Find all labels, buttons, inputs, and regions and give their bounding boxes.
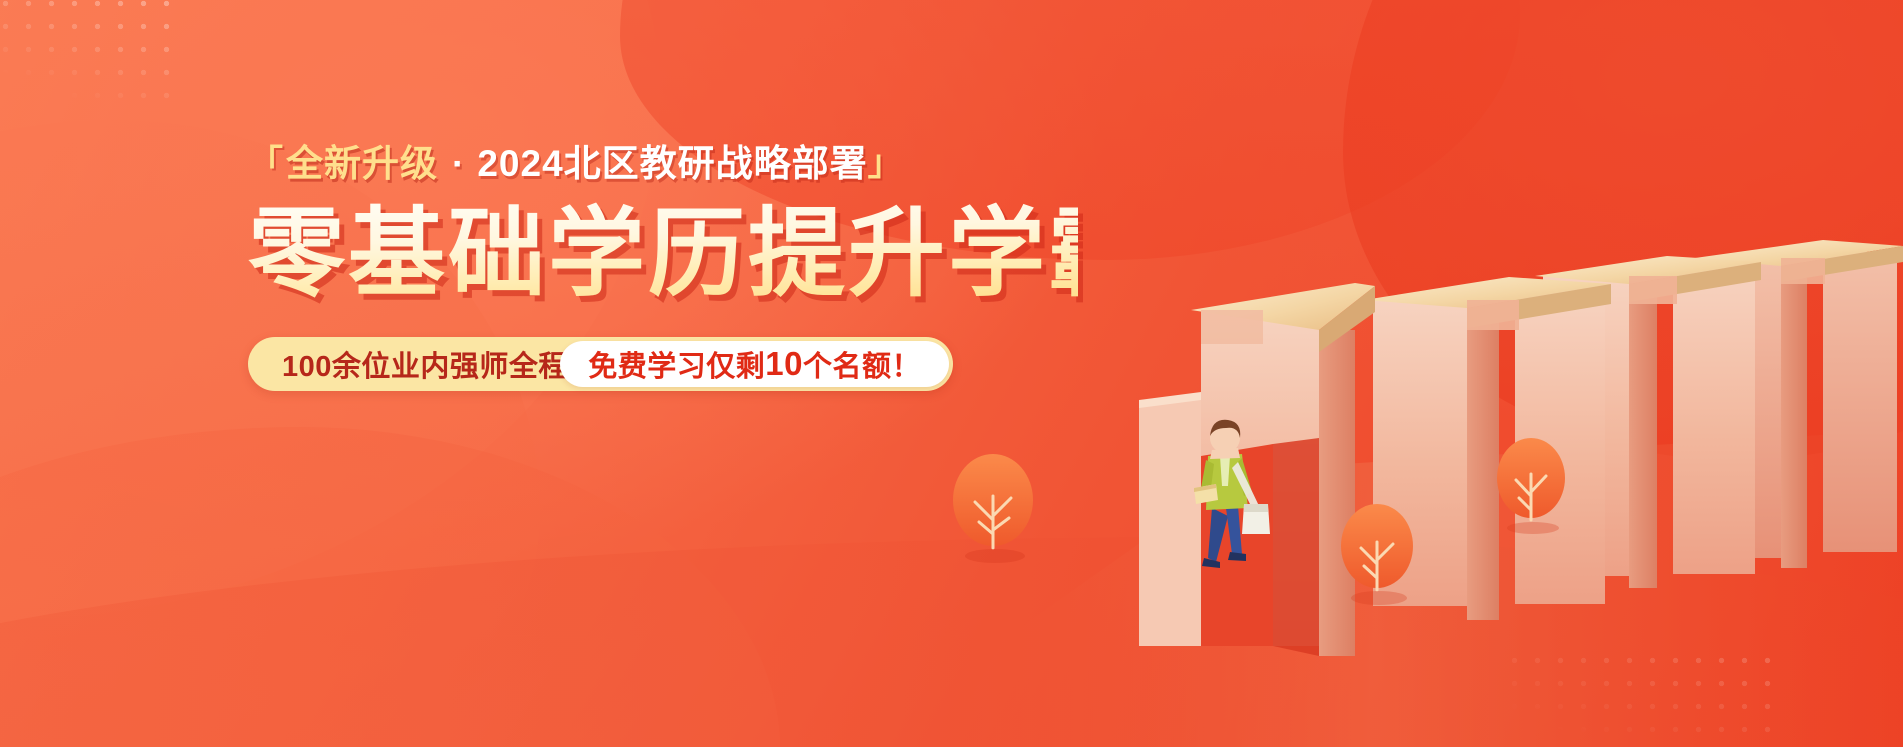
tree-left xyxy=(953,454,1033,563)
book-arch-1 xyxy=(1139,283,1375,656)
subtitle-gold-text: 全新升级 xyxy=(286,145,438,182)
subtitle-white-text: 2024北区教研战略部署 xyxy=(477,145,867,182)
pill-free-seats-suffix: 个名额！ xyxy=(803,343,921,385)
highlight-pill-group: 100余位业内强师全程面授 免费学习仅剩10个名额！ xyxy=(248,337,953,391)
pill-free-seats-badge[interactable]: 免费学习仅剩10个名额！ xyxy=(560,341,949,387)
bracket-close: 」 xyxy=(868,146,904,181)
dot-pattern-top-left xyxy=(0,0,182,112)
book-arches-illustration xyxy=(943,0,1903,747)
page-title: 零基础学历提升学霸班 xyxy=(248,202,1078,307)
promo-banner: 「 全新升级 · 2024北区教研战略部署 」 零基础学历提升学霸班 100余位… xyxy=(0,0,1903,747)
banner-subtitle: 「 全新升级 · 2024北区教研战略部署 」 xyxy=(248,138,1078,188)
pill-free-seats-prefix: 免费学习仅剩 xyxy=(588,343,765,385)
pill-free-seats-number: 10 xyxy=(765,345,803,383)
banner-text-block: 「 全新升级 · 2024北区教研战略部署 」 零基础学历提升学霸班 100余位… xyxy=(248,138,1078,391)
subtitle-separator-dot: · xyxy=(452,145,465,182)
bracket-open: 「 xyxy=(248,146,284,181)
